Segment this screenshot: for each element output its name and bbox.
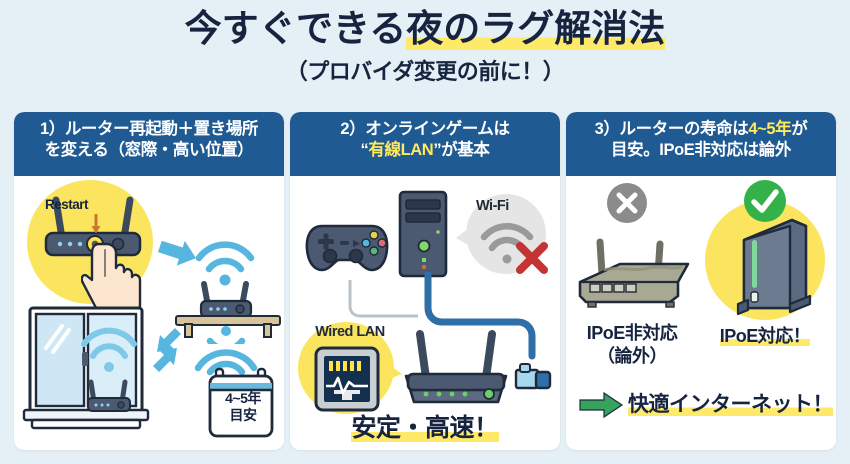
infographic-page: 今すぐできる夜のラグ解消法 （プロバイダ変更の前に！） 1）ルーター再起動＋置き… bbox=[0, 0, 850, 464]
panel-1-heading: 1）ルーター再起動＋置き場所 を変える（窓際・高い位置） bbox=[14, 112, 284, 176]
panel-2-footer-text: 安定・高速！ bbox=[351, 414, 498, 442]
window-icon bbox=[22, 304, 150, 436]
panel-3-heading: 3）ルーターの寿命は4~5年が 目安。IPoE非対応は論外 bbox=[566, 112, 836, 176]
old-router-icon bbox=[574, 220, 694, 312]
panel-1-heading-line1: 1）ルーター再起動＋置き場所 bbox=[18, 119, 280, 140]
panel-3-heading-pre: 3）ルーターの寿命は bbox=[595, 120, 749, 138]
panel-3-footer: 快適インターネット！ bbox=[628, 388, 833, 418]
page-title: 今すぐできる夜のラグ解消法 bbox=[185, 8, 666, 51]
panel-3-heading-line1: 3）ルーターの寿命は4~5年が bbox=[570, 119, 832, 140]
panel-3-heading-highlight: 4~5年 bbox=[748, 120, 791, 138]
ipoe-bad-label: IPoE非対応 （論外） bbox=[570, 322, 694, 367]
ipoe-good-text: IPoE対応！ bbox=[720, 326, 811, 346]
page-title-highlight: 夜のラグ解消法 bbox=[406, 8, 665, 50]
router-icon bbox=[394, 318, 530, 414]
panel-ipoe: 3）ルーターの寿命は4~5年が 目安。IPoE非対応は論外 bbox=[566, 112, 836, 450]
page-title-plain: 今すぐできる bbox=[185, 8, 407, 49]
panel-router-restart: 1）ルーター再起動＋置き場所 を変える（窓際・高い位置） bbox=[14, 112, 284, 450]
panel-2-heading-line1: 2）オンラインゲームは bbox=[294, 119, 556, 140]
panel-3-heading-line2: 目安。IPoE非対応は論外 bbox=[570, 140, 832, 161]
rj45-plug-icon bbox=[514, 362, 554, 398]
wired-lan-label: Wired LAN bbox=[300, 324, 400, 340]
shelf-router-icon bbox=[174, 228, 282, 344]
restart-label: Restart bbox=[45, 197, 88, 212]
header: 今すぐできる夜のラグ解消法 （プロバイダ変更の前に！） bbox=[0, 8, 850, 86]
panel-1-heading-line2: を変える（窓際・高い位置） bbox=[18, 140, 280, 161]
page-subtitle: （プロバイダ変更の前に！） bbox=[0, 54, 850, 86]
panel-2-illustration: Wi-Fi Wired LAN bbox=[290, 176, 560, 450]
panel-1-illustration: Restart bbox=[14, 176, 284, 450]
gamepad-icon bbox=[304, 216, 390, 278]
green-check-badge-icon bbox=[742, 178, 788, 224]
ipoe-good-label: IPoE対応！ bbox=[702, 322, 828, 348]
panel-wired-lan: 2）オンラインゲームは “有線LAN”が基本 bbox=[290, 112, 560, 450]
lan-port-icon bbox=[314, 346, 380, 412]
panel-2-heading: 2）オンラインゲームは “有線LAN”が基本 bbox=[290, 112, 560, 176]
green-arrow-icon bbox=[578, 392, 624, 418]
wifi-label: Wi-Fi bbox=[476, 198, 509, 214]
calendar-text: 4~5年 目安 bbox=[206, 390, 280, 423]
ipoe-bad-line2: （論外） bbox=[597, 346, 667, 366]
panel-3-footer-text: 快適インターネット！ bbox=[628, 393, 833, 416]
calendar-line1: 4~5年 bbox=[225, 390, 261, 406]
panel-row: 1）ルーター再起動＋置き場所 を変える（窓際・高い位置） bbox=[0, 112, 850, 460]
ipoe-bad-line1: IPoE非対応 bbox=[587, 323, 678, 343]
panel-2-footer: 安定・高速！ bbox=[290, 408, 560, 444]
panel-3-heading-post: が bbox=[791, 120, 807, 138]
restart-down-arrow-icon bbox=[89, 214, 103, 236]
panel-2-heading-rest: ”が基本 bbox=[433, 141, 489, 159]
calendar-line2: 目安 bbox=[230, 407, 257, 423]
pc-tower-icon bbox=[394, 188, 452, 280]
panel-3-illustration: IPoE非対応 （論外） IPoE対応！ 快適インターネット！ bbox=[566, 176, 836, 450]
grey-cross-badge-icon bbox=[606, 182, 648, 224]
panel-2-heading-highlight: 有線LAN bbox=[368, 141, 433, 159]
arrow-double-icon bbox=[147, 326, 189, 374]
panel-2-heading-line2: “有線LAN”が基本 bbox=[294, 140, 556, 161]
